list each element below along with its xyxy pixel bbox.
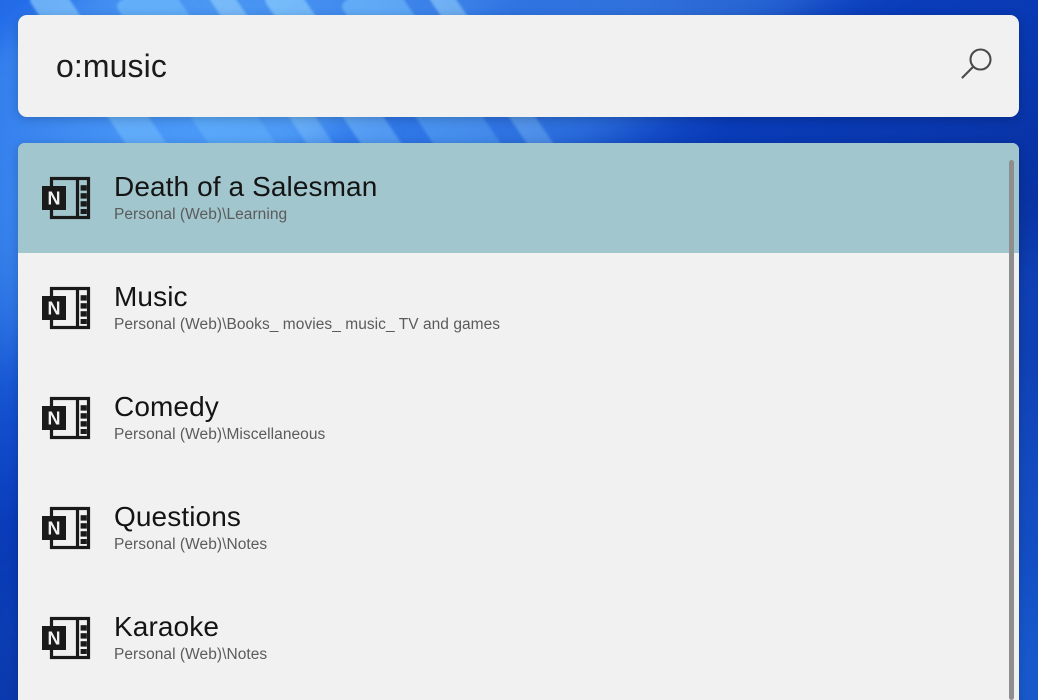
search-result-title: Music bbox=[114, 281, 500, 313]
svg-text:N: N bbox=[48, 299, 61, 319]
search-result-subtitle: Personal (Web)\Notes bbox=[114, 536, 267, 555]
search-result-text: Music Personal (Web)\Books_ movies_ musi… bbox=[110, 281, 500, 334]
search-result-item-0[interactable]: N Death of a Salesman Personal (Web)\Lea… bbox=[18, 143, 1019, 253]
desktop-wallpaper: N Death of a Salesman Personal (Web)\Lea… bbox=[0, 0, 1038, 700]
svg-text:N: N bbox=[48, 519, 61, 539]
results-scrollbar[interactable] bbox=[1007, 143, 1017, 700]
search-result-title: Questions bbox=[114, 501, 267, 533]
search-result-title: Karaoke bbox=[114, 611, 267, 643]
search-result-item-1[interactable]: N Music Personal (Web)\Books_ movies_ mu… bbox=[18, 253, 1019, 363]
search-result-item-4[interactable]: N Karaoke Personal (Web)\Notes bbox=[18, 583, 1019, 693]
search-box[interactable] bbox=[18, 15, 1019, 117]
onenote-icon: N bbox=[40, 505, 110, 551]
search-result-text: Questions Personal (Web)\Notes bbox=[110, 501, 267, 554]
onenote-icon: N bbox=[40, 395, 110, 441]
onenote-icon: N bbox=[40, 615, 110, 661]
search-result-text: Comedy Personal (Web)\Miscellaneous bbox=[110, 391, 325, 444]
search-button[interactable] bbox=[933, 15, 1019, 117]
search-result-subtitle: Personal (Web)\Books_ movies_ music_ TV … bbox=[114, 316, 500, 335]
search-result-title: Death of a Salesman bbox=[114, 171, 377, 203]
search-result-title: Comedy bbox=[114, 391, 325, 423]
search-result-subtitle: Personal (Web)\Notes bbox=[114, 646, 267, 665]
search-result-text: Death of a Salesman Personal (Web)\Learn… bbox=[110, 171, 377, 224]
onenote-icon: N bbox=[40, 285, 110, 331]
onenote-icon: N bbox=[40, 175, 110, 221]
results-scrollbar-thumb[interactable] bbox=[1009, 160, 1014, 700]
search-result-text: Karaoke Personal (Web)\Notes bbox=[110, 611, 267, 664]
search-results-list: N Death of a Salesman Personal (Web)\Lea… bbox=[18, 143, 1019, 693]
search-icon bbox=[955, 44, 997, 89]
search-results-panel: N Death of a Salesman Personal (Web)\Lea… bbox=[18, 143, 1019, 700]
search-result-subtitle: Personal (Web)\Learning bbox=[114, 206, 377, 225]
svg-text:N: N bbox=[48, 629, 61, 649]
search-result-item-2[interactable]: N Comedy Personal (Web)\Miscellaneous bbox=[18, 363, 1019, 473]
svg-text:N: N bbox=[48, 189, 61, 209]
search-result-subtitle: Personal (Web)\Miscellaneous bbox=[114, 426, 325, 445]
svg-text:N: N bbox=[48, 409, 61, 429]
search-input[interactable] bbox=[18, 48, 933, 85]
search-result-item-3[interactable]: N Questions Personal (Web)\Notes bbox=[18, 473, 1019, 583]
